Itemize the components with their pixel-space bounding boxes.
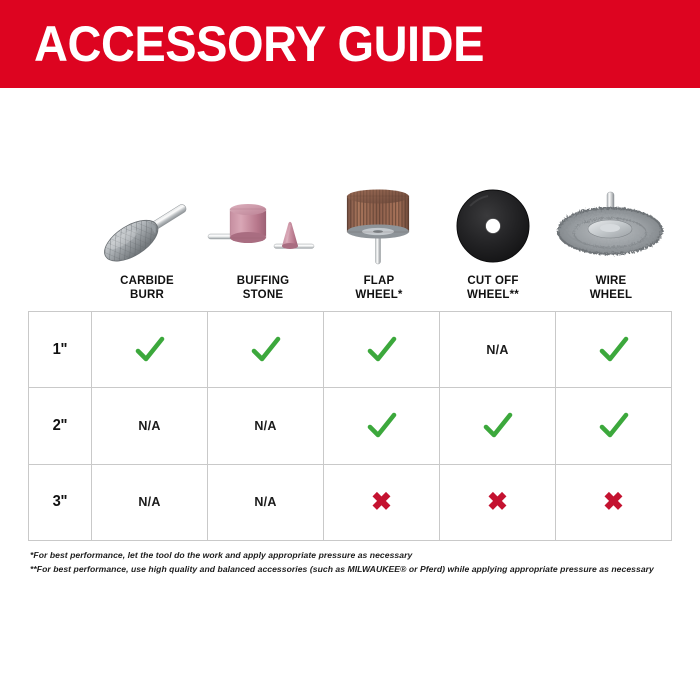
product-label: FLAP WHEEL* [355, 268, 402, 302]
cell-2in-flap-wheel [324, 388, 440, 463]
cell-3in-cut-off-wheel: ✖ [440, 465, 556, 540]
check-icon [135, 336, 165, 364]
page-title: ACCESSORY GUIDE [34, 16, 484, 72]
product-buffing-stone: BUFFING STONE [204, 178, 322, 302]
cut-off-wheel-icon [436, 182, 550, 268]
x-icon: ✖ [371, 490, 392, 515]
check-icon [251, 336, 281, 364]
header-banner: ACCESSORY GUIDE [0, 0, 700, 88]
check-icon [367, 412, 397, 440]
product-flap-wheel: FLAP WHEEL* [322, 178, 436, 302]
row-header-label: 2" [53, 417, 68, 435]
check-icon [367, 336, 397, 364]
cell-3in-carbide-burr: N/A [92, 465, 208, 540]
cell-2in-carbide-burr: N/A [92, 388, 208, 463]
cell-2in-cut-off-wheel [440, 388, 556, 463]
product-wire-wheel: WIRE WHEEL [550, 178, 672, 302]
cell-1in-buffing-stone [208, 312, 324, 387]
cell-3in-flap-wheel: ✖ [324, 465, 440, 540]
check-icon [599, 412, 629, 440]
product-label: WIRE WHEEL [590, 268, 633, 302]
row-header-label: 3" [53, 493, 68, 511]
product-label: CUT OFF WHEEL** [467, 268, 519, 302]
cell-3in-wire-wheel: ✖ [556, 465, 671, 540]
table-row: 2" N/A N/A [29, 388, 671, 464]
cell-1in-flap-wheel [324, 312, 440, 387]
cell-1in-carbide-burr [92, 312, 208, 387]
table-row: 3" N/A N/A ✖ ✖ ✖ [29, 465, 671, 540]
product-row-spacer [28, 178, 90, 302]
na-label: N/A [254, 419, 276, 433]
product-label: BUFFING STONE [237, 268, 290, 302]
product-cut-off-wheel: CUT OFF WHEEL** [436, 178, 550, 302]
na-label: N/A [138, 419, 160, 433]
footnote-double-asterisk: **For best performance, use high quality… [30, 562, 680, 576]
check-icon [483, 412, 513, 440]
na-label: N/A [486, 343, 508, 357]
row-header-size: 2" [29, 388, 92, 463]
row-header-size: 3" [29, 465, 92, 540]
footnote-single-asterisk: *For best performance, let the tool do t… [30, 548, 680, 562]
carbide-burr-icon [90, 182, 204, 268]
buffing-stone-icon [204, 182, 322, 268]
product-label: CARBIDE BURR [120, 268, 174, 302]
cell-2in-buffing-stone: N/A [208, 388, 324, 463]
flap-wheel-icon [322, 182, 436, 268]
product-image-row: CARBIDE BURR [28, 178, 672, 302]
cell-3in-buffing-stone: N/A [208, 465, 324, 540]
row-header-size: 1" [29, 312, 92, 387]
product-carbide-burr: CARBIDE BURR [90, 178, 204, 302]
compatibility-table: 1" N/A 2" [28, 311, 672, 541]
x-icon: ✖ [487, 490, 508, 515]
check-icon [599, 336, 629, 364]
wire-wheel-icon [550, 182, 672, 268]
cell-1in-wire-wheel [556, 312, 671, 387]
x-icon: ✖ [603, 490, 624, 515]
footnotes: *For best performance, let the tool do t… [30, 548, 680, 576]
row-header-label: 1" [53, 341, 68, 359]
table-row: 1" N/A [29, 312, 671, 388]
na-label: N/A [138, 495, 160, 509]
cell-1in-cut-off-wheel: N/A [440, 312, 556, 387]
na-label: N/A [254, 495, 276, 509]
cell-2in-wire-wheel [556, 388, 671, 463]
